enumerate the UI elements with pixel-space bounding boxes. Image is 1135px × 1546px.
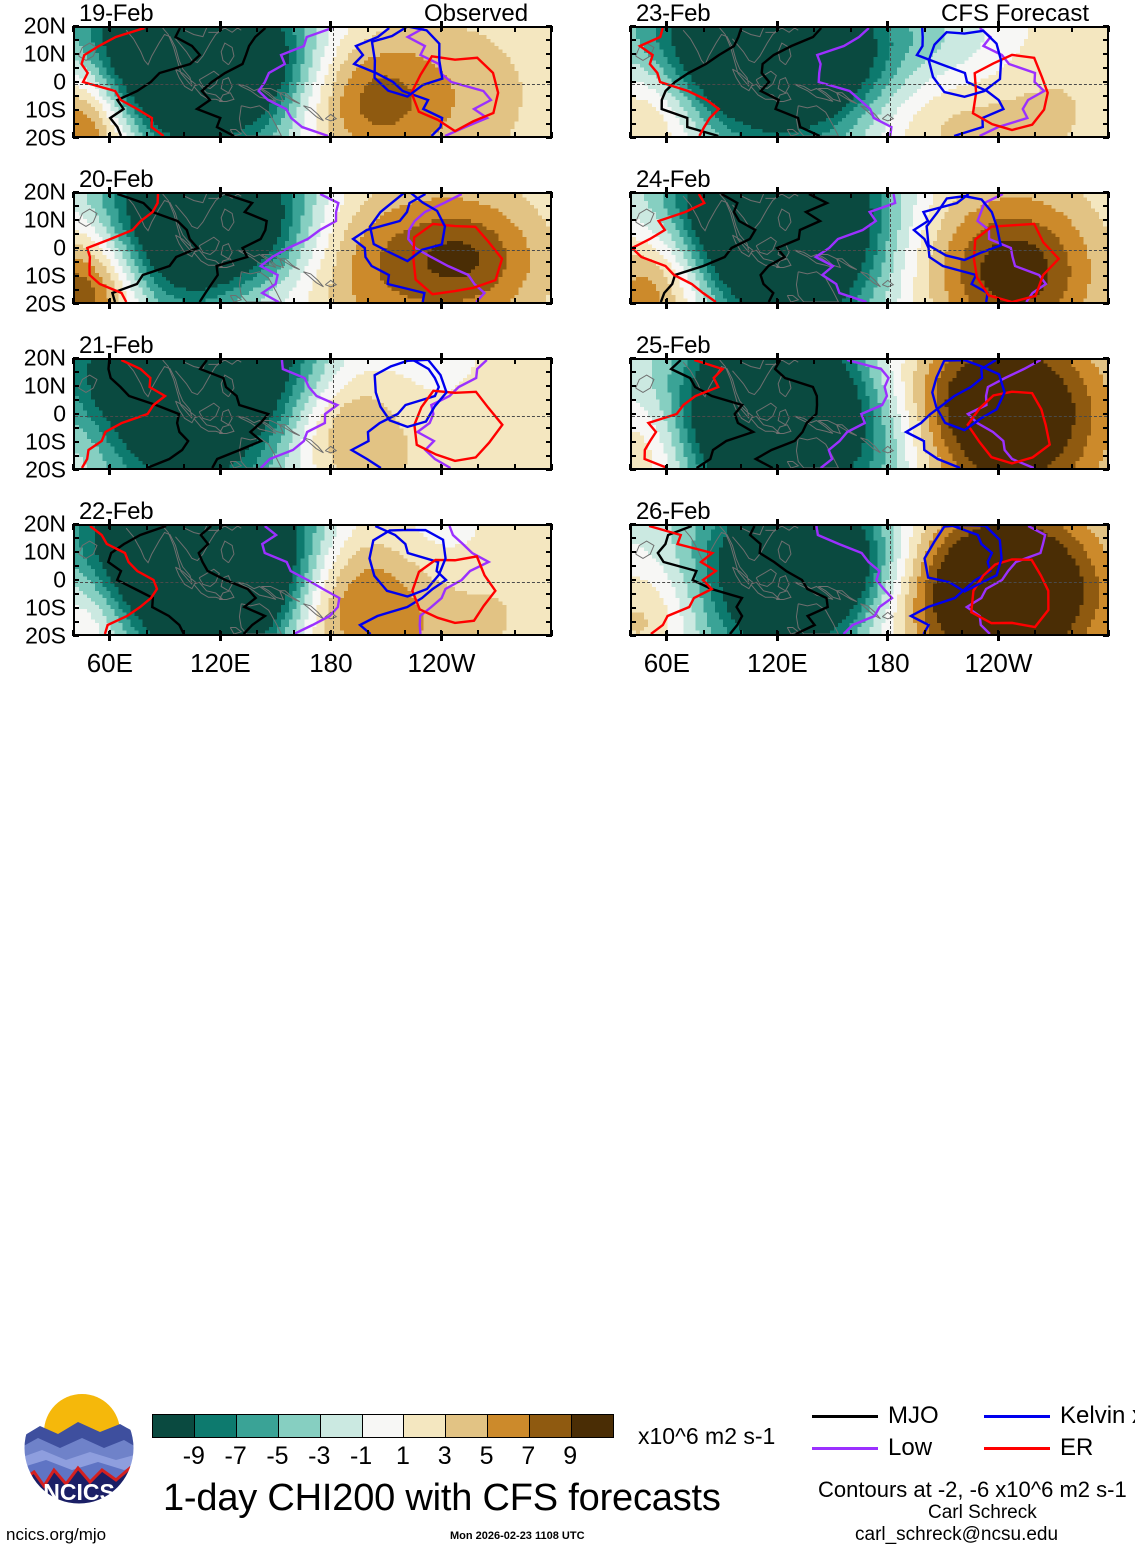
contour-legend: MJOKelvin x2LowER <box>812 1404 1122 1464</box>
axis-tick <box>630 635 636 637</box>
panel-26-feb: 26-Feb60E120E180120W <box>0 0 1135 690</box>
render-timestamp: Mon 2026-02-23 1108 UTC <box>450 1530 585 1542</box>
colorbar-swatch <box>404 1415 446 1437</box>
legend-item-er: ER <box>984 1436 1093 1460</box>
site-url[interactable]: ncics.org/mjo <box>6 1525 106 1545</box>
colorbar-swatch <box>195 1415 237 1437</box>
axis-tick <box>850 524 852 530</box>
colorbar-tick-label: 9 <box>563 1442 577 1471</box>
axis-major-tick <box>997 519 1000 529</box>
axis-tick <box>630 523 636 525</box>
axis-tick <box>1103 579 1109 581</box>
axis-tick <box>1103 635 1109 637</box>
panel-date-label: 26-Feb <box>636 500 710 524</box>
axis-tick <box>1103 523 1109 525</box>
colorbar-tick-label: 5 <box>480 1442 494 1471</box>
colorbar-swatch <box>446 1415 488 1437</box>
axis-major-tick <box>665 631 668 641</box>
colorbar-tick-label: 3 <box>438 1442 452 1471</box>
axis-major-tick <box>886 631 889 641</box>
axis-tick <box>1103 593 1109 595</box>
colorbar-swatch <box>530 1415 572 1437</box>
page-title: 1-day CHI200 with CFS forecasts <box>163 1477 721 1520</box>
colorbar-swatch <box>321 1415 363 1437</box>
contour-note: Contours at -2, -6 x10^6 m2 s-1 <box>818 1477 1127 1503</box>
legend-label: ER <box>1060 1436 1093 1460</box>
legend-line-swatch <box>984 1415 1050 1418</box>
colorbar-tick-label: 7 <box>521 1442 535 1471</box>
axis-tick <box>630 593 636 595</box>
x-tick-label: 120W <box>964 650 1032 676</box>
axis-tick <box>740 524 742 530</box>
axis-tick <box>630 565 636 567</box>
axis-tick <box>924 630 926 636</box>
axis-tick <box>924 524 926 530</box>
axis-tick <box>630 621 636 623</box>
axis-major-tick <box>776 631 779 641</box>
legend-label: Low <box>888 1436 932 1460</box>
x-tick-label: 180 <box>866 650 909 676</box>
colorbar-tick-label: -3 <box>308 1442 330 1471</box>
ncics-logo: NCICS <box>20 1390 138 1518</box>
colorbar-unit-label: x10^6 m2 s-1 <box>638 1423 775 1450</box>
dateline-guide <box>890 526 891 634</box>
panel-grid: 19-FebObserved20N10N010S20S20-Feb20N10N0… <box>0 0 1135 690</box>
x-tick-label: 120E <box>747 650 808 676</box>
legend-line-swatch <box>984 1447 1050 1450</box>
axis-tick <box>850 630 852 636</box>
colorbar-tick-label: -7 <box>225 1442 247 1471</box>
colorbar-tick-label: -5 <box>266 1442 288 1471</box>
colorbar-tick-label: -1 <box>350 1442 372 1471</box>
axis-tick <box>703 524 705 530</box>
axis-major-tick <box>886 519 889 529</box>
axis-tick <box>961 630 963 636</box>
legend-label: MJO <box>888 1404 939 1428</box>
axis-major-tick <box>776 519 779 529</box>
colorbar-tick-label: 1 <box>396 1442 410 1471</box>
axis-tick <box>630 607 636 609</box>
axis-tick <box>1071 630 1073 636</box>
colorbar-swatch <box>572 1415 613 1437</box>
axis-tick <box>630 579 636 581</box>
colorbar-tick-labels: -9-7-5-3-113579 <box>152 1442 612 1470</box>
axis-major-tick <box>997 631 1000 641</box>
legend-line-swatch <box>812 1447 878 1450</box>
colorbar-swatch <box>153 1415 195 1437</box>
colorbar <box>152 1414 614 1438</box>
colorbar-swatch <box>488 1415 530 1437</box>
axis-tick <box>961 524 963 530</box>
author-email: carl_schreck@ncsu.edu <box>855 1524 1058 1546</box>
axis-tick <box>1103 537 1109 539</box>
colorbar-swatch <box>363 1415 405 1437</box>
axis-tick <box>1103 551 1109 553</box>
axis-tick <box>1071 524 1073 530</box>
axis-major-tick <box>665 519 668 529</box>
author-name: Carl Schreck <box>928 1502 1037 1524</box>
axis-tick <box>813 630 815 636</box>
shaded-field <box>632 526 1107 634</box>
x-tick-label: 60E <box>644 650 690 676</box>
axis-tick <box>703 630 705 636</box>
x-axis-labels-right: 60E120E180120W <box>630 650 1109 682</box>
axis-tick <box>1103 621 1109 623</box>
axis-tick <box>1034 630 1036 636</box>
legend-item-kelvin-x2: Kelvin x2 <box>984 1404 1135 1428</box>
colorbar-tick-label: -9 <box>183 1442 205 1471</box>
equator-guide <box>632 582 1107 583</box>
axis-tick <box>740 630 742 636</box>
colorbar-swatch <box>279 1415 321 1437</box>
axis-tick <box>630 537 636 539</box>
axis-tick <box>1103 607 1109 609</box>
axis-tick <box>630 551 636 553</box>
figure-footer: NCICS -9-7-5-3-113579 x10^6 m2 s-1 1-day… <box>0 690 1135 860</box>
axis-tick <box>813 524 815 530</box>
legend-item-mjo: MJO <box>812 1404 939 1428</box>
legend-label: Kelvin x2 <box>1060 1404 1135 1428</box>
legend-line-swatch <box>812 1415 878 1418</box>
legend-item-low: Low <box>812 1436 932 1460</box>
axis-tick <box>1103 565 1109 567</box>
colorbar-swatch <box>237 1415 279 1437</box>
axis-tick <box>1034 524 1036 530</box>
logo-text: NCICS <box>43 1479 115 1505</box>
plot-area-26-feb <box>630 524 1109 636</box>
